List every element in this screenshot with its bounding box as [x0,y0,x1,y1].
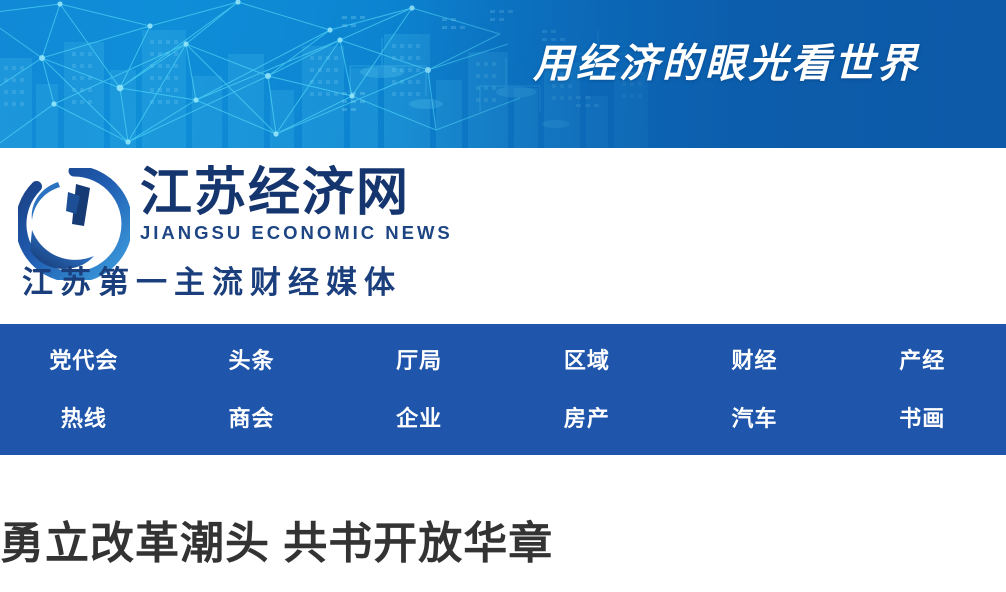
article-headline: 勇立改革潮头 共书开放华章 [0,516,1006,571]
logo-title-cn: 江苏经济网 [140,166,470,219]
main-navigation: 党代会 头条 厅局 区域 财经 产经 热线 商会 企业 房产 汽车 书画 [0,324,1006,455]
site-logo[interactable]: 江苏经济网 JIANGSU ECONOMIC NEWS 江苏第一主流财经媒体 [18,160,488,310]
nav-item-real-estate[interactable]: 房产 [503,408,671,430]
logo-title-en: JIANGSU ECONOMIC NEWS [140,221,470,245]
logo-wordmark: 江苏经济网 JIANGSU ECONOMIC NEWS [140,166,470,245]
nav-item-industry[interactable]: 产经 [838,350,1006,372]
nav-item-automotive[interactable]: 汽车 [671,408,839,430]
page-root: 用经济的眼光看世界 [0,0,1006,592]
nav-item-hotline[interactable]: 热线 [0,408,168,430]
nav-item-party-congress[interactable]: 党代会 [0,350,168,372]
site-banner: 用经济的眼光看世界 [0,0,1006,148]
nav-item-calligraphy-painting[interactable]: 书画 [838,408,1006,430]
nav-item-departments[interactable]: 厅局 [335,350,503,372]
logo-tagline: 江苏第一主流财经媒体 [22,268,402,299]
nav-item-enterprise[interactable]: 企业 [335,408,503,430]
nav-item-regions[interactable]: 区域 [503,350,671,372]
jiangsu-economic-news-logo-icon [18,168,130,280]
nav-row-primary: 党代会 头条 厅局 区域 财经 产经 [0,324,1006,389]
nav-item-finance[interactable]: 财经 [671,350,839,372]
nav-row-secondary: 热线 商会 企业 房产 汽车 书画 [0,389,1006,454]
nav-item-chamber-of-commerce[interactable]: 商会 [168,408,336,430]
banner-slogan: 用经济的眼光看世界 [533,44,920,84]
nav-item-headlines[interactable]: 头条 [168,350,336,372]
